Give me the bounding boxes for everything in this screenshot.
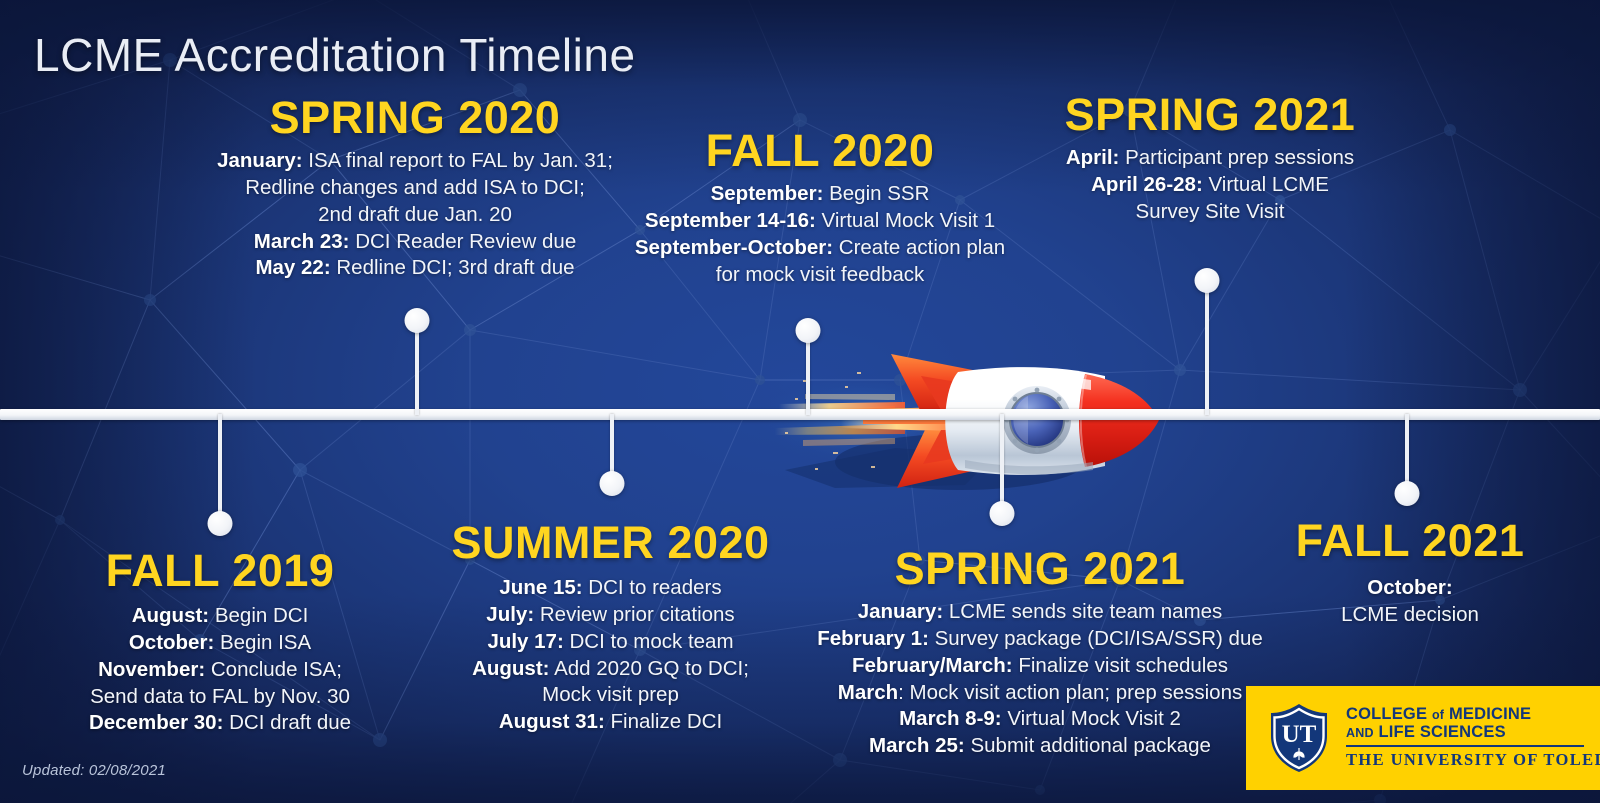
- milestone-line: October:: [1255, 575, 1565, 602]
- logo-line-2: AND LIFE SCIENCES: [1346, 724, 1600, 742]
- milestone-line: September-October: Create action plan: [617, 235, 1023, 262]
- milestone-line: for mock visit feedback: [617, 262, 1023, 289]
- timeline-marker-spring-2020[interactable]: [404, 308, 429, 415]
- milestone-spring-2020: SPRING 2020 January: ISA final report to…: [180, 95, 650, 282]
- milestone-line: October: Begin ISA: [20, 630, 420, 657]
- timeline-marker-summer-2020[interactable]: [599, 414, 624, 496]
- milestone-lines: September: Begin SSR September 14-16: Vi…: [617, 181, 1023, 288]
- milestone-line: Redline changes and add ISA to DCI;: [180, 175, 650, 202]
- logo-line-1: COLLEGE of MEDICINE: [1346, 706, 1600, 724]
- milestone-heading: FALL 2020: [617, 128, 1023, 173]
- marker-dot: [795, 318, 820, 343]
- milestone-line: December 30: DCI draft due: [20, 710, 420, 737]
- page-title: LCME Accreditation Timeline: [34, 28, 636, 82]
- milestone-line: February/March: Finalize visit schedules: [800, 653, 1280, 680]
- marker-dot: [599, 471, 624, 496]
- milestone-line: June 15: DCI to readers: [408, 575, 813, 602]
- timeline-marker-spring-2021-top[interactable]: [1194, 268, 1219, 415]
- logo-lockup: COLLEGE of MEDICINE AND LIFE SCIENCES TH…: [1346, 706, 1600, 769]
- milestone-line: March 23: DCI Reader Review due: [180, 229, 650, 256]
- milestone-fall-2020: FALL 2020 September: Begin SSR September…: [617, 128, 1023, 288]
- milestone-fall-2021: FALL 2021 October: LCME decision: [1255, 518, 1565, 629]
- milestone-line: August 31: Finalize DCI: [408, 709, 813, 736]
- timeline-marker-spring-2021-bottom[interactable]: [989, 414, 1014, 526]
- milestone-lines: August: Begin DCI October: Begin ISA Nov…: [20, 603, 420, 737]
- milestone-line: November: Conclude ISA;: [20, 657, 420, 684]
- milestone-summer-2020: SUMMER 2020 June 15: DCI to readers July…: [408, 520, 813, 736]
- milestone-heading: SPRING 2021: [990, 92, 1430, 137]
- milestone-line: May 22: Redline DCI; 3rd draft due: [180, 255, 650, 282]
- marker-dot: [207, 511, 232, 536]
- milestone-line: April 26-28: Virtual LCME: [990, 172, 1430, 199]
- marker-stem: [1205, 279, 1209, 415]
- marker-dot: [1394, 481, 1419, 506]
- logo-line-3: THE UNIVERSITY OF TOLEDO: [1346, 750, 1600, 770]
- marker-stem: [218, 414, 222, 525]
- timeline-marker-fall-2019[interactable]: [207, 414, 232, 536]
- milestone-lines: June 15: DCI to readers July: Review pri…: [408, 575, 813, 736]
- milestone-line: Survey Site Visit: [990, 199, 1430, 226]
- milestone-fall-2019: FALL 2019 August: Begin DCI October: Beg…: [20, 548, 420, 737]
- marker-dot: [1194, 268, 1219, 293]
- milestone-heading: FALL 2021: [1255, 518, 1565, 563]
- milestone-spring-2021-bottom: SPRING 2021 January: LCME sends site tea…: [800, 546, 1280, 760]
- milestone-line: September: Begin SSR: [617, 181, 1023, 208]
- milestone-line: January: ISA final report to FAL by Jan.…: [180, 148, 650, 175]
- milestone-line: July 17: DCI to mock team: [408, 629, 813, 656]
- milestone-lines: January: ISA final report to FAL by Jan.…: [180, 148, 650, 282]
- marker-stem: [415, 319, 419, 415]
- milestone-line: January: LCME sends site team names: [800, 599, 1280, 626]
- university-of-toledo-logo: UT COLLEGE of MEDICINE AND LIFE SCIENCES…: [1246, 686, 1600, 790]
- updated-timestamp: Updated: 02/08/2021: [22, 762, 166, 779]
- milestone-lines: April: Participant prep sessions April 2…: [990, 145, 1430, 226]
- logo-divider: [1346, 745, 1584, 747]
- milestone-line: March: Mock visit action plan; prep sess…: [800, 680, 1280, 707]
- milestone-spring-2021-top: SPRING 2021 April: Participant prep sess…: [990, 92, 1430, 226]
- timeline-marker-fall-2020[interactable]: [795, 318, 820, 415]
- milestone-heading: SUMMER 2020: [408, 520, 813, 565]
- svg-text:UT: UT: [1282, 721, 1317, 748]
- milestone-line: April: Participant prep sessions: [990, 145, 1430, 172]
- milestone-line: Send data to FAL by Nov. 30: [20, 684, 420, 711]
- milestone-heading: SPRING 2021: [800, 546, 1280, 591]
- milestone-lines: January: LCME sends site team names Febr…: [800, 599, 1280, 760]
- milestone-line: March 8-9: Virtual Mock Visit 2: [800, 706, 1280, 733]
- milestone-line: July: Review prior citations: [408, 602, 813, 629]
- milestone-line: March 25: Submit additional package: [800, 733, 1280, 760]
- milestone-line: LCME decision: [1255, 602, 1565, 629]
- milestone-line: 2nd draft due Jan. 20: [180, 202, 650, 229]
- ut-shield-icon: UT: [1268, 702, 1330, 774]
- milestone-line: February 1: Survey package (DCI/ISA/SSR)…: [800, 626, 1280, 653]
- marker-dot: [404, 308, 429, 333]
- marker-stem: [1000, 414, 1004, 515]
- milestone-heading: FALL 2019: [20, 548, 420, 593]
- infographic-canvas: LCME Accreditation Timeline SPRING 2020 …: [0, 0, 1600, 803]
- milestone-line: Mock visit prep: [408, 682, 813, 709]
- timeline-marker-fall-2021[interactable]: [1394, 414, 1419, 506]
- milestone-heading: SPRING 2020: [180, 95, 650, 140]
- milestone-line: August: Add 2020 GQ to DCI;: [408, 656, 813, 683]
- milestone-line: September 14-16: Virtual Mock Visit 1: [617, 208, 1023, 235]
- milestone-line: August: Begin DCI: [20, 603, 420, 630]
- milestone-lines: October: LCME decision: [1255, 575, 1565, 629]
- marker-dot: [989, 501, 1014, 526]
